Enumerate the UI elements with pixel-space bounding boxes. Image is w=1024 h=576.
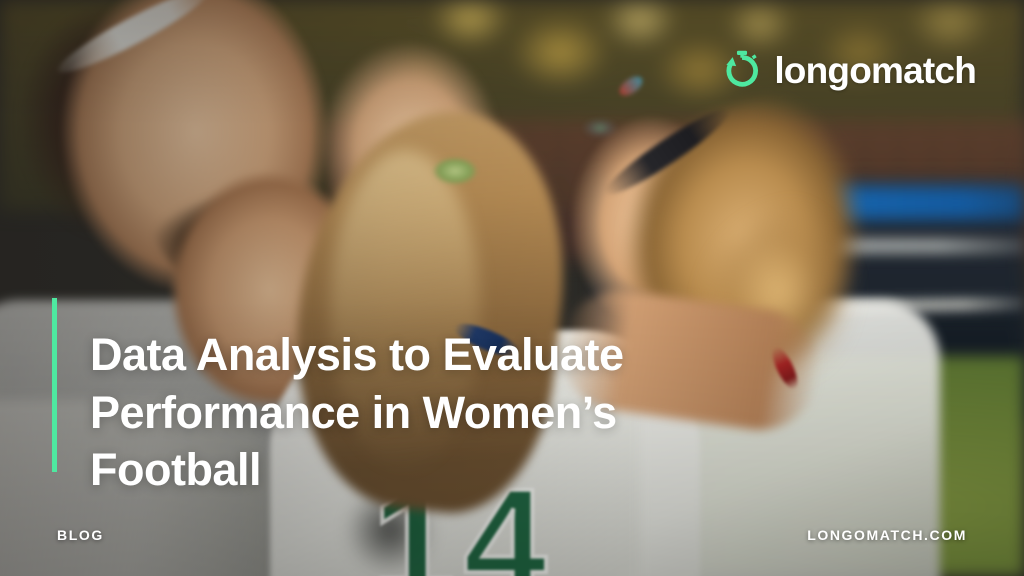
page-title: Data Analysis to Evaluate Performance in…	[90, 326, 730, 499]
lens-flare-secondary	[582, 118, 618, 138]
headline-accent-bar	[52, 298, 57, 472]
brand-wordmark: longomatch	[774, 52, 976, 89]
site-url-label: LONGOMATCH.COM	[807, 527, 967, 543]
blog-social-card: 14 longomatch Data Analysis to Evaluate …	[0, 0, 1024, 576]
stopwatch-icon	[720, 48, 764, 92]
headline-block: Data Analysis to Evaluate Performance in…	[52, 296, 730, 529]
hair-tie	[432, 157, 478, 185]
category-label: BLOG	[57, 527, 104, 543]
brand-logo[interactable]: longomatch	[720, 48, 976, 92]
